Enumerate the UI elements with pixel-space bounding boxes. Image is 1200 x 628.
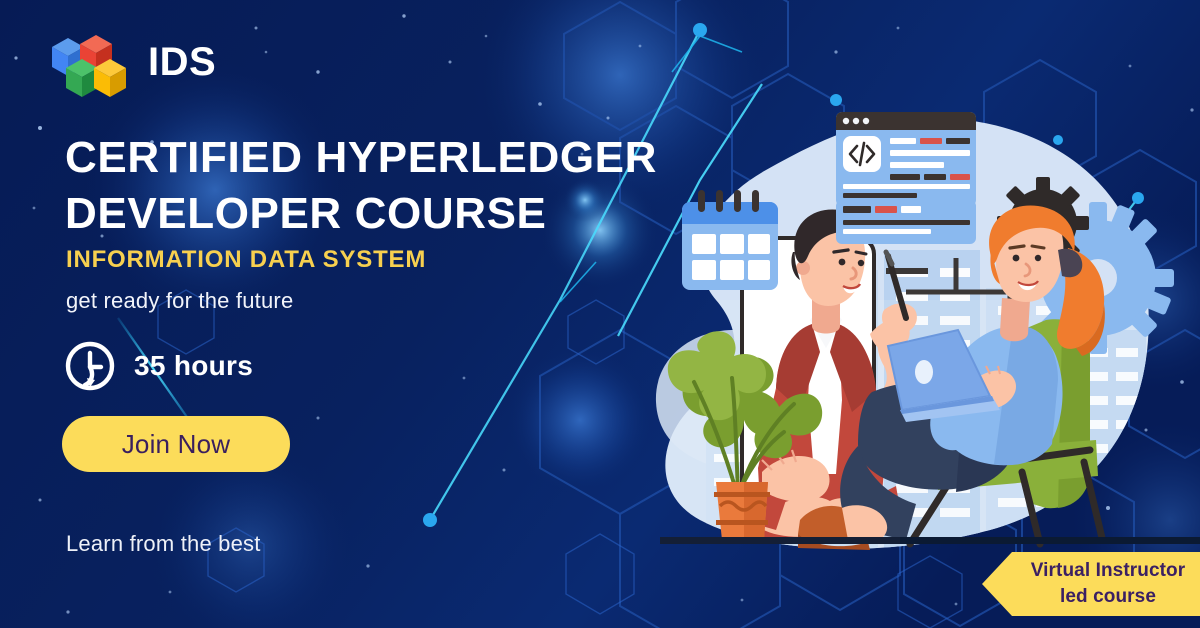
text-column: IDS CERTIFIED HYPERLEDGER DEVELOPER COUR… <box>0 0 660 628</box>
join-now-button[interactable]: Join Now <box>62 416 290 472</box>
clock-history-icon <box>64 340 116 392</box>
subtitle: INFORMATION DATA SYSTEM <box>66 246 426 274</box>
promo-banner: IDS CERTIFIED HYPERLEDGER DEVELOPER COUR… <box>0 0 1200 628</box>
virtual-instructor-ribbon: Virtual Instructor led course <box>982 548 1200 620</box>
headline-line-1: CERTIFIED HYPERLEDGER <box>65 130 685 186</box>
duration-badge: 35 hours <box>64 340 253 392</box>
logo-wordmark: IDS <box>148 42 216 82</box>
code-window <box>836 112 976 244</box>
calendar-icon <box>682 190 778 290</box>
headline-line-2: DEVELOPER COURSE <box>65 186 685 242</box>
tagline: get ready for the future <box>66 288 293 314</box>
ribbon-line-1: Virtual Instructor <box>1031 559 1186 583</box>
duration-label: 35 hours <box>134 350 253 382</box>
ids-cubes-logo-icon <box>46 26 134 98</box>
brand-logo[interactable]: IDS <box>46 26 216 98</box>
page-title: CERTIFIED HYPERLEDGER DEVELOPER COURSE <box>65 130 685 243</box>
window-dots <box>843 118 869 124</box>
ribbon-line-2: led course <box>1060 585 1156 609</box>
footer-note: Learn from the best <box>66 531 261 557</box>
